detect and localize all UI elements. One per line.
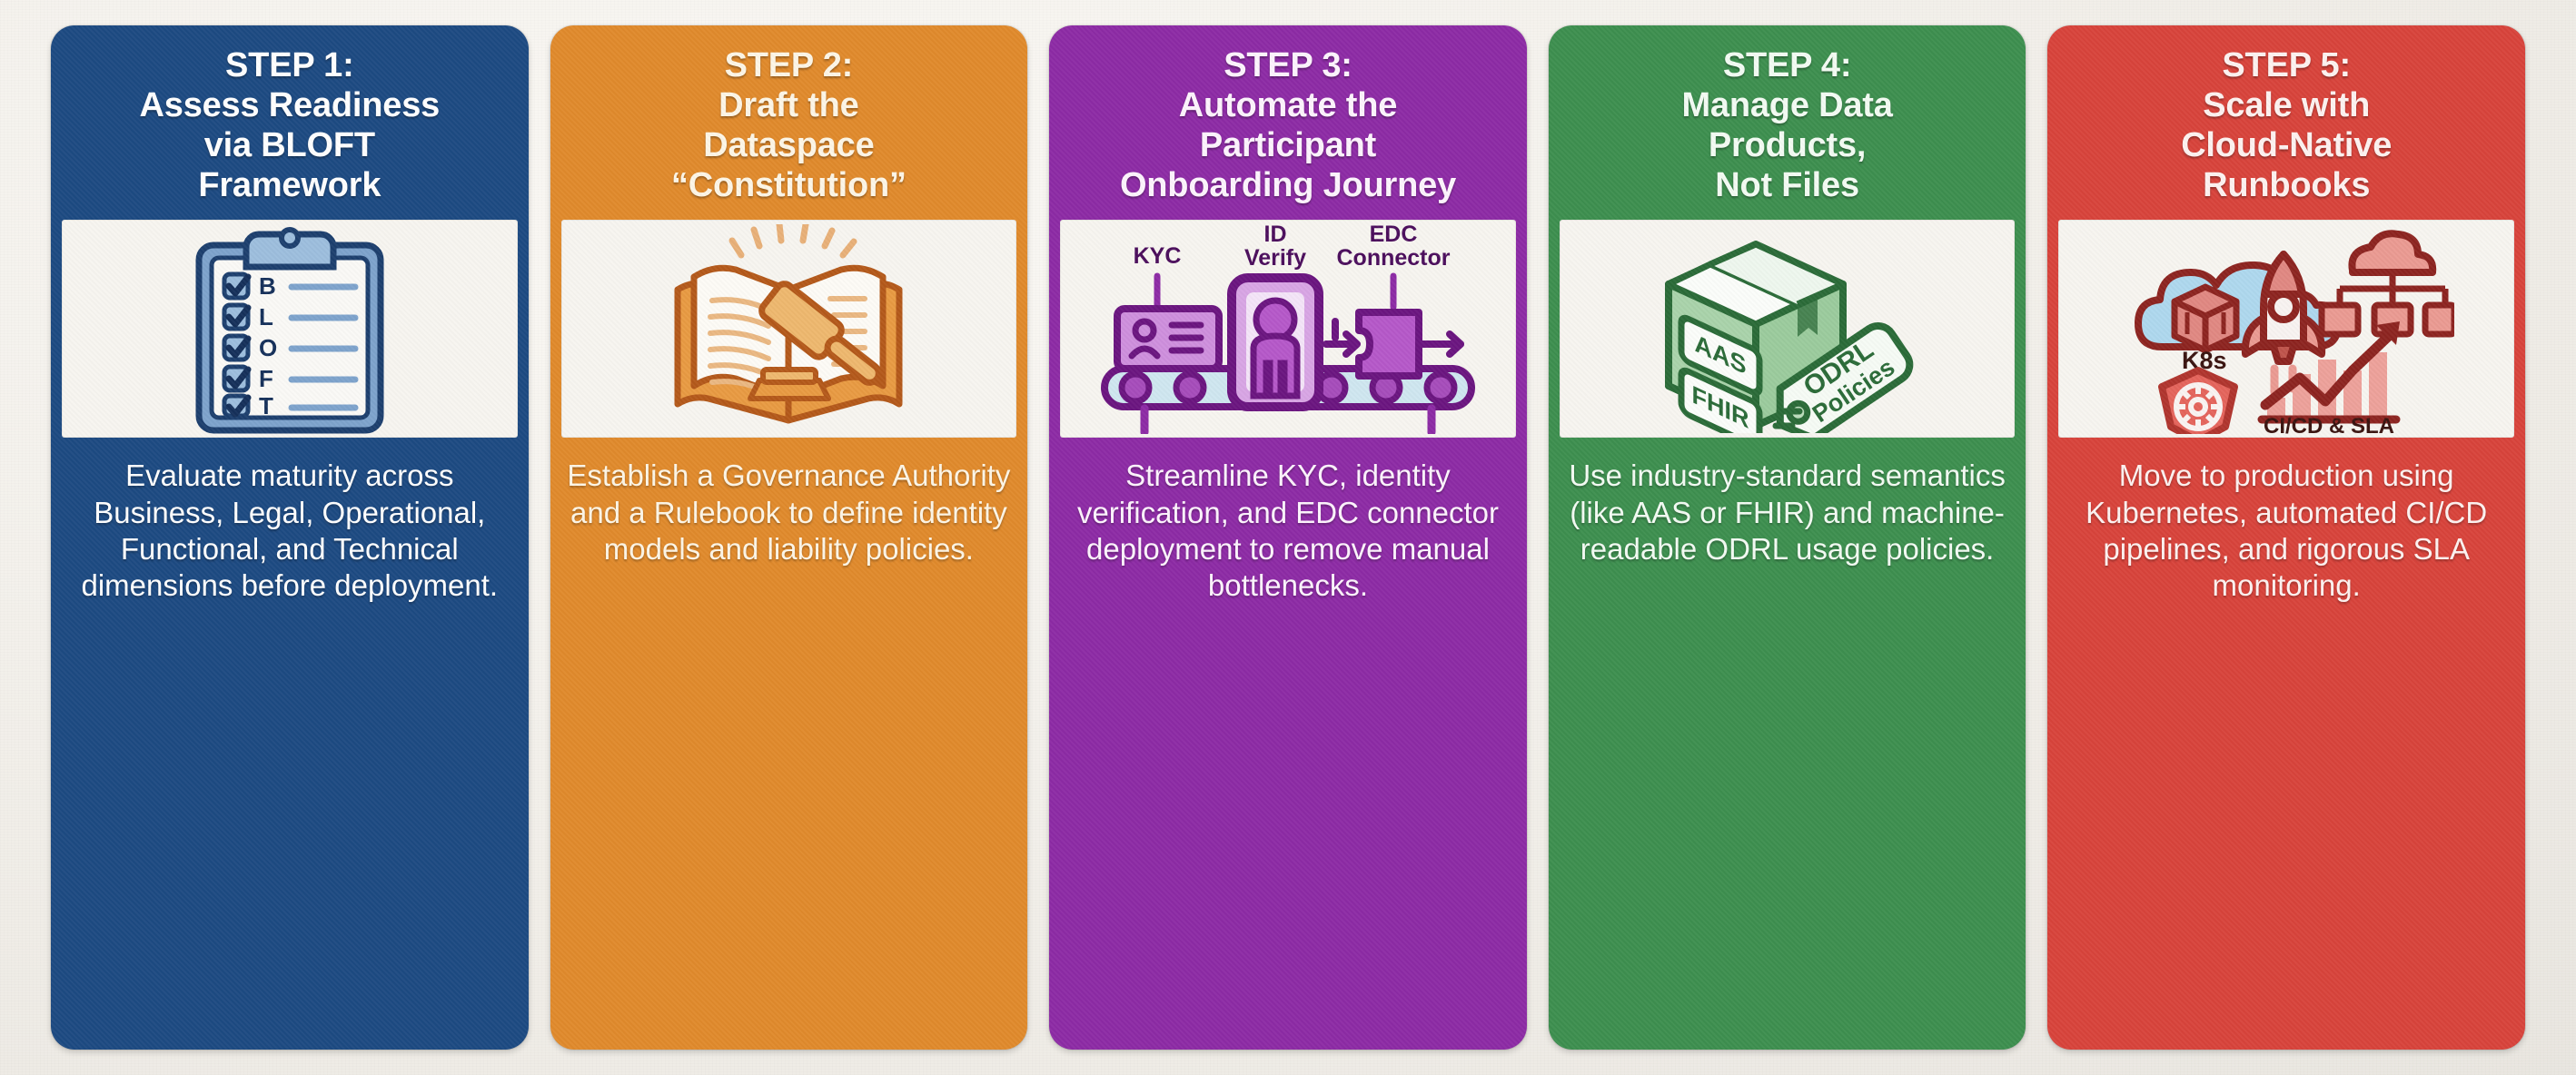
bloft-clipboard-checklist-icon: B L O F T <box>172 223 408 434</box>
bloft-letter-o: O <box>259 334 277 361</box>
step-card-2[interactable]: STEP 2: Draft the Dataspace “Constitutio… <box>550 25 1028 1050</box>
step-1-header: STEP 1: Assess Readiness via BLOFT Frame… <box>51 25 529 220</box>
step-2-title-line-2: Dataspace <box>563 125 1016 165</box>
bloft-letter-b: B <box>259 272 276 300</box>
onboarding-conveyor-icon: KYC ID Verify EDC Connector <box>1097 223 1479 434</box>
step-4-body: Use industry-standard semantics (like AA… <box>1549 438 2026 1050</box>
steps-card-row: STEP 1: Assess Readiness via BLOFT Frame… <box>51 25 2525 1050</box>
data-product-box-icon: AAS FHIR ODRL Policies <box>1638 224 1937 433</box>
bloft-letter-t: T <box>259 392 273 419</box>
step-4-body-text: Use industry-standard semantics (like AA… <box>1563 458 2012 567</box>
lawbook-gavel-icon <box>661 224 916 433</box>
step-1-label: STEP 1: <box>64 45 516 85</box>
step-3-label: STEP 3: <box>1062 45 1514 85</box>
step-1-title-line-1: Assess Readiness <box>64 85 516 125</box>
step-3-icon-panel: KYC ID Verify EDC Connector <box>1060 220 1516 438</box>
step-5-label: STEP 5: <box>2060 45 2512 85</box>
onboarding-label-verify: Verify <box>1244 245 1306 271</box>
step-3-header: STEP 3: Automate the Participant Onboard… <box>1049 25 1527 220</box>
step-2-label: STEP 2: <box>563 45 1016 85</box>
step-4-title-line-3: Not Files <box>1561 165 2014 205</box>
step-2-title-line-1: Draft the <box>563 85 1016 125</box>
cloud-label-cicd-sla: CI/CD & SLA <box>2264 414 2394 434</box>
step-5-icon-panel: K8s <box>2058 220 2514 438</box>
step-4-icon-panel: AAS FHIR ODRL Policies <box>1560 220 2016 438</box>
step-5-header: STEP 5: Scale with Cloud-Native Runbooks <box>2047 25 2525 220</box>
step-4-label: STEP 4: <box>1561 45 2014 85</box>
bloft-letter-l: L <box>259 303 273 330</box>
bloft-letter-f: F <box>259 365 273 392</box>
step-1-title-line-3: Framework <box>64 165 516 205</box>
step-4-header: STEP 4: Manage Data Products, Not Files <box>1549 25 2026 220</box>
step-2-icon-panel <box>561 220 1017 438</box>
step-3-title-line-2: Participant <box>1062 125 1514 165</box>
step-5-title-line-3: Runbooks <box>2060 165 2512 205</box>
onboarding-label-edc: EDC <box>1370 223 1418 247</box>
step-5-title-line-2: Cloud-Native <box>2060 125 2512 165</box>
step-5-title-line-1: Scale with <box>2060 85 2512 125</box>
step-1-title-line-2: via BLOFT <box>64 125 516 165</box>
onboarding-label-kyc: KYC <box>1134 243 1182 269</box>
step-3-title-line-1: Automate the <box>1062 85 1514 125</box>
step-1-icon-panel: B L O F T <box>62 220 518 438</box>
step-2-title-line-3: “Constitution” <box>563 165 1016 205</box>
cloud-native-scale-icon: K8s <box>2118 223 2454 434</box>
step-3-body-text: Streamline KYC, identity verification, a… <box>1064 458 1512 604</box>
step-1-body: Evaluate maturity across Business, Legal… <box>51 438 529 1050</box>
step-2-header: STEP 2: Draft the Dataspace “Constitutio… <box>550 25 1028 220</box>
step-card-1[interactable]: STEP 1: Assess Readiness via BLOFT Frame… <box>51 25 529 1050</box>
step-4-title-line-1: Manage Data <box>1561 85 2014 125</box>
step-card-5[interactable]: STEP 5: Scale with Cloud-Native Runbooks <box>2047 25 2525 1050</box>
step-card-3[interactable]: STEP 3: Automate the Participant Onboard… <box>1049 25 1527 1050</box>
step-4-title-line-2: Products, <box>1561 125 2014 165</box>
step-5-body: Move to production using Kubernetes, aut… <box>2047 438 2525 1050</box>
step-2-body: Establish a Governance Authority and a R… <box>550 438 1028 1050</box>
onboarding-label-connector: Connector <box>1336 245 1450 271</box>
step-card-4[interactable]: STEP 4: Manage Data Products, Not Files <box>1549 25 2026 1050</box>
step-1-body-text: Evaluate maturity across Business, Legal… <box>65 458 514 604</box>
step-5-body-text: Move to production using Kubernetes, aut… <box>2062 458 2511 604</box>
step-3-body: Streamline KYC, identity verification, a… <box>1049 438 1527 1050</box>
step-2-body-text: Establish a Governance Authority and a R… <box>565 458 1014 567</box>
onboarding-label-id: ID <box>1263 223 1286 247</box>
step-3-title-line-3: Onboarding Journey <box>1062 165 1514 205</box>
